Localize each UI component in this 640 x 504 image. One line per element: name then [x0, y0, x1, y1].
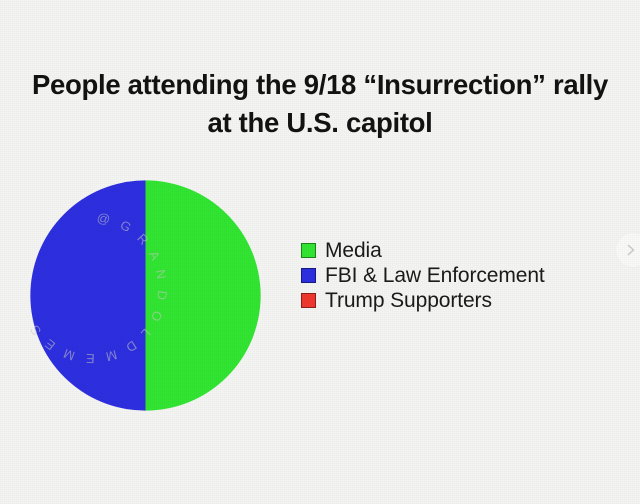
- legend-item-fbi-law-enforcement: FBI & Law Enforcement: [301, 263, 545, 288]
- legend-item-trump-supporters: Trump Supporters: [301, 288, 545, 313]
- legend-label-fbi-law-enforcement: FBI & Law Enforcement: [325, 264, 545, 287]
- chart-canvas: People attending the 9/18 “Insurrection”…: [0, 0, 640, 504]
- pie-slice-media: [146, 180, 261, 410]
- legend-label-trump-supporters: Trump Supporters: [325, 289, 492, 312]
- chevron-right-icon: [628, 243, 638, 257]
- chart-legend: Media FBI & Law Enforcement Trump Suppor…: [301, 238, 545, 313]
- legend-label-media: Media: [325, 239, 382, 262]
- pie-chart-svg: [28, 178, 263, 413]
- chart-title: People attending the 9/18 “Insurrection”…: [0, 66, 640, 142]
- pie-chart: [28, 178, 263, 413]
- carousel-next-button[interactable]: [616, 233, 640, 267]
- legend-swatch-trump-supporters: [301, 293, 316, 308]
- legend-swatch-media: [301, 243, 316, 258]
- pie-slice-fbi-law-enforcement: [30, 180, 145, 410]
- legend-swatch-fbi-law-enforcement: [301, 268, 316, 283]
- legend-item-media: Media: [301, 238, 545, 263]
